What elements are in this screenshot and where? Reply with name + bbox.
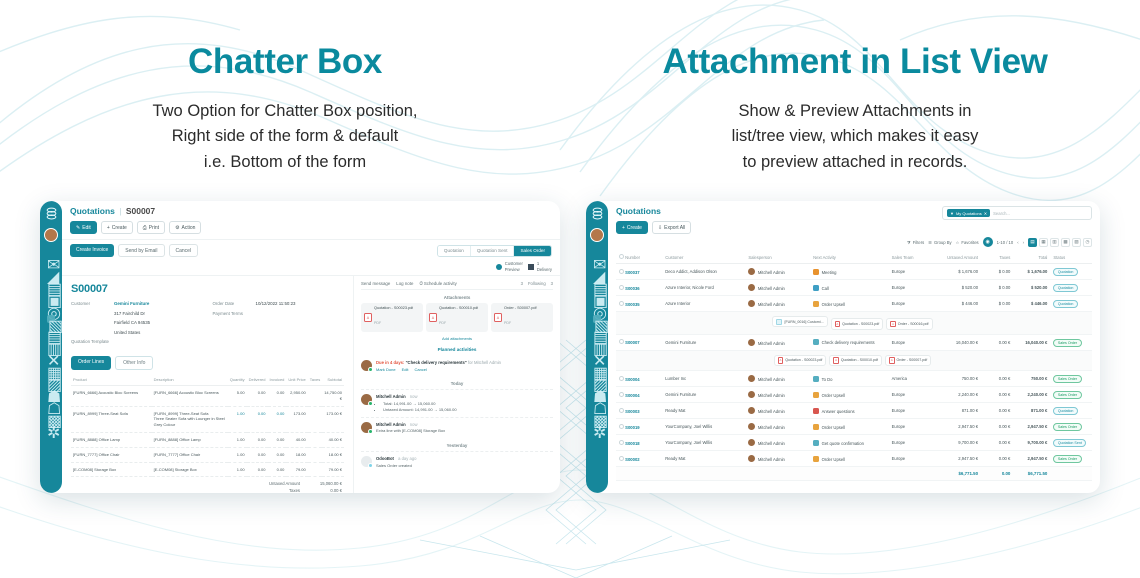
sales-icon[interactable]: ▧	[593, 315, 601, 323]
status-badge: Sales Order	[1053, 455, 1081, 463]
cell-salesperson[interactable]: Mitchell Admin	[745, 435, 810, 451]
table-row[interactable]: S00004Lumber IncMitchell AdminTo DoAmeri…	[616, 371, 1092, 387]
cell-subtotal[interactable]: 79.00 €	[322, 462, 344, 477]
cell-unit-price[interactable]: 79.00	[286, 462, 307, 477]
status-badge: Sales Order	[1053, 339, 1081, 347]
col-sales-team[interactable]: Sales Team	[889, 251, 931, 264]
cell-next-activity[interactable]: Order Upsell	[810, 387, 889, 403]
record-link[interactable]: S00002	[625, 457, 639, 462]
graph-icon[interactable]: ▨	[1072, 238, 1081, 247]
contacts-icon[interactable]: ▣	[47, 291, 55, 299]
cell-status[interactable]: Sales Order	[1050, 387, 1092, 403]
cell-next-activity[interactable]: Answer questions	[810, 403, 889, 419]
button-label: Create	[627, 225, 642, 231]
cell-taxes[interactable]	[308, 406, 322, 432]
cell-taxes[interactable]	[308, 432, 322, 447]
cell-description[interactable]: [E-COM08] Storage Box	[152, 462, 228, 477]
cell-customer[interactable]: Gemini Furniture	[662, 334, 745, 350]
cell-unit-price[interactable]: 173.00	[286, 406, 307, 432]
cell-next-activity[interactable]: Check delivery requirements	[810, 334, 889, 350]
project-icon[interactable]: ▩	[47, 411, 55, 419]
crm-icon[interactable]: ◎	[47, 303, 55, 311]
table-row[interactable]: S00035Azure InteriorMitchell AdminOrder …	[616, 296, 1092, 312]
cell-customer[interactable]: YourCompany, Joel Willis	[662, 419, 745, 435]
col-unit-price[interactable]: Unit Price	[286, 374, 307, 386]
cell-description[interactable]: [FURN_8888] Office Lamp	[152, 432, 228, 447]
cell-untaxed-amount[interactable]: $ 446.00	[930, 296, 981, 312]
accounting-icon[interactable]: ▦	[47, 363, 55, 371]
cell-total[interactable]: 750.00 €	[1013, 371, 1050, 387]
inventory-icon[interactable]: ▥	[47, 339, 55, 347]
cell-status[interactable]: Quotation	[1050, 296, 1092, 312]
cell-subtotal[interactable]: 14,750.00 €	[322, 385, 344, 406]
cell-taxes[interactable]: 0.00 €	[981, 451, 1013, 467]
table-body: S00037Deco Addict, Addison OlsonMitchell…	[616, 264, 1092, 467]
mark-done-button[interactable]: Mark Done	[376, 367, 396, 372]
cell-quantity[interactable]: 1.00	[228, 447, 247, 462]
cell-subtotal[interactable]: 40.00 €	[322, 432, 344, 447]
row-checkbox[interactable]	[619, 269, 624, 274]
status-line: Create Invoice Send by Email Cancel Quot…	[62, 239, 560, 261]
row-checkbox[interactable]	[619, 339, 624, 344]
col-delivered[interactable]: Delivered	[247, 374, 268, 386]
table-row[interactable]: S00018YourCompany, Joel WillisMitchell A…	[616, 435, 1092, 451]
pdf-icon: A	[889, 357, 895, 364]
create-invoice-button[interactable]: Create Invoice	[70, 244, 114, 257]
cell-number[interactable]: S00035	[616, 296, 662, 312]
table-row[interactable]: S00002Ready MatMitchell AdminOrder Upsel…	[616, 451, 1092, 467]
contacts-icon[interactable]: ▣	[593, 291, 601, 299]
cell-sales-team[interactable]: Europe	[889, 387, 931, 403]
cell-invoiced[interactable]: 0.00	[268, 462, 287, 477]
pivot-icon[interactable]: ▩	[1061, 238, 1070, 247]
cell-taxes[interactable]	[308, 462, 322, 477]
cell-number[interactable]: S00003	[616, 403, 662, 419]
cell-total[interactable]: $ 1,676.00	[1013, 264, 1050, 280]
cell-unit-price[interactable]: 40.00	[286, 432, 307, 447]
field-payment-terms[interactable]: Payment Terms	[213, 311, 345, 318]
activity-icon[interactable]: ◷	[1083, 238, 1092, 247]
log-note-button[interactable]: Log note	[396, 281, 413, 286]
cell-taxes[interactable]: 0.00 €	[981, 419, 1013, 435]
col-next-activity[interactable]: Next Activity	[810, 251, 889, 264]
add-attachments-button[interactable]: Add attachments	[361, 336, 553, 341]
following-count[interactable]: 3	[551, 281, 553, 286]
field-column-right: Order Date 10/12/2022 11:50:23 Payment T…	[213, 301, 345, 349]
table-row[interactable]: S00003Ready MatMitchell AdminAnswer ques…	[616, 403, 1092, 419]
row-checkbox[interactable]	[619, 408, 624, 413]
cell-subtotal[interactable]: 173.00 €	[322, 406, 344, 432]
cell-taxes[interactable]	[308, 447, 322, 462]
cell-untaxed-amount[interactable]: 871.00 €	[930, 403, 981, 419]
smart-label-1: Customer	[505, 261, 523, 266]
total-label: Taxes	[260, 488, 300, 493]
customer-preview-button[interactable]: Customer Preview	[496, 261, 523, 272]
send-message-button[interactable]: Send message	[361, 281, 390, 286]
attachment-chip[interactable]: AQuotation - S00023.pdf	[831, 318, 884, 330]
col-subtotal[interactable]: Subtotal	[322, 374, 344, 386]
col-taxes[interactable]: Taxes	[981, 251, 1013, 264]
breadcrumb-root[interactable]: Quotations	[70, 206, 115, 216]
cell-sales-team[interactable]: Europe	[889, 296, 931, 312]
cell-customer[interactable]: Ready Mat	[662, 451, 745, 467]
cell-total[interactable]: $ 446.00	[1013, 296, 1050, 312]
website-icon[interactable]: ▨	[47, 375, 55, 383]
table-row[interactable]: S00037Deco Addict, Addison OlsonMitchell…	[616, 264, 1092, 280]
cell-description[interactable]: [FURN_7777] Office Chair	[152, 447, 228, 462]
messages-icon[interactable]: ✉	[593, 255, 601, 263]
cell-number[interactable]: S00036	[616, 280, 662, 296]
cell-quantity[interactable]: 1.00	[228, 406, 247, 432]
cell-salesperson[interactable]: Mitchell Admin	[745, 403, 810, 419]
manufacturing-icon[interactable]: ✕	[593, 351, 601, 359]
form-control-bar: Quotations | S00007 ✎ Edit + Create	[62, 201, 560, 234]
cell-sales-team[interactable]: America	[889, 371, 931, 387]
cell-description[interactable]: [FURN_6666] Acoustic Bloc Screens	[152, 385, 228, 406]
project-icon[interactable]: ▩	[593, 411, 601, 419]
cell-untaxed-amount[interactable]: 750.00 €	[930, 371, 981, 387]
odoo-app-sidebar[interactable]: ✉ ◢ ▤ ▣ ◎ ▧ ▤ ▥ ✕ ▦ ▨ ☗ ☖ ▩ ✲	[40, 201, 62, 493]
cell-sales-team[interactable]: Europe	[889, 334, 931, 350]
cell-delivered[interactable]: 0.00	[247, 385, 268, 406]
cell-number[interactable]: S00018	[616, 435, 662, 451]
list-icon[interactable]: ▤	[1028, 238, 1037, 247]
col-salesperson[interactable]: Salesperson	[745, 251, 810, 264]
row-checkbox[interactable]	[619, 392, 624, 397]
cell-total[interactable]: 9,700.00 €	[1013, 435, 1050, 451]
cell-customer[interactable]: Azure Interior	[662, 296, 745, 312]
col-invoiced[interactable]: Invoiced	[268, 374, 287, 386]
breadcrumb[interactable]: Quotations | S00007	[70, 206, 552, 216]
cell-next-activity[interactable]: Get quote confirmation	[810, 435, 889, 451]
col-taxes[interactable]: Taxes	[308, 374, 322, 386]
cell-untaxed-amount[interactable]: 16,040.00 €	[930, 334, 981, 350]
megaphone-icon[interactable]: ◢	[47, 267, 55, 275]
attachment-chip[interactable]: A Quotation - S00010.pdf PDF	[426, 303, 488, 332]
cell-taxes[interactable]: $ 0.00	[981, 264, 1013, 280]
crm-icon[interactable]: ◎	[593, 303, 601, 311]
row-checkbox[interactable]	[619, 376, 624, 381]
order-line-row[interactable]: [FURN_8888] Office Lamp[FURN_8888] Offic…	[71, 432, 344, 447]
table-row[interactable]: S00036Azure Interior, Nicole FordMitchel…	[616, 280, 1092, 296]
field-value: Fairfield CA 94535	[114, 320, 150, 327]
attachment-chip[interactable]: AQuotation - S00010.pdf	[829, 355, 882, 367]
record-link[interactable]: S00019	[625, 425, 639, 430]
table-row[interactable]: S00004Gemini FurnitureMitchell AdminOrde…	[616, 387, 1092, 403]
filters-button[interactable]: ⧩ Filters	[907, 240, 924, 245]
cell-taxes[interactable]: 0.00 €	[981, 334, 1013, 350]
cell-delivered[interactable]: 0.00	[247, 462, 268, 477]
cell-unit-price[interactable]: 2,950.00	[286, 385, 307, 406]
search-input[interactable]: ▼ My Quotations ✕ Search...	[942, 206, 1092, 220]
cell-status[interactable]: Sales Order	[1050, 334, 1092, 350]
cell-number[interactable]: S00004	[616, 371, 662, 387]
attachment-chip[interactable]: AOrder - S00016.pdf	[886, 318, 932, 330]
calendar-icon[interactable]: ▥	[1050, 238, 1059, 247]
col-total[interactable]: Total	[1013, 251, 1050, 264]
status-bar[interactable]: Quotation Quotation Sent Sales Order	[437, 245, 552, 257]
cell-total[interactable]: $ 520.00	[1013, 280, 1050, 296]
cell-invoiced[interactable]: 0.00	[268, 432, 287, 447]
cell-number[interactable]: S00019	[616, 419, 662, 435]
cell-taxes[interactable]: 0.00 €	[981, 435, 1013, 451]
kanban-icon[interactable]: ▦	[1039, 238, 1048, 247]
order-line-row[interactable]: [FURN_6666] Acoustic Bloc Screens[FURN_6…	[71, 385, 344, 406]
cell-taxes[interactable]: $ 0.00	[981, 296, 1013, 312]
record-link[interactable]: S00036	[625, 286, 639, 291]
cell-salesperson[interactable]: Mitchell Admin	[745, 387, 810, 403]
table-row[interactable]: S00019YourCompany, Joel WillisMitchell A…	[616, 419, 1092, 435]
cell-salesperson[interactable]: Mitchell Admin	[745, 334, 810, 350]
cell-untaxed-amount[interactable]: $ 1,676.00	[930, 264, 981, 280]
cell-subtotal[interactable]: 18.00 €	[322, 447, 344, 462]
avatar	[748, 268, 755, 275]
employees-icon[interactable]: ☗	[47, 387, 55, 395]
record-link[interactable]: S00035	[625, 302, 639, 307]
cell-number[interactable]: S00002	[616, 451, 662, 467]
cell-salesperson[interactable]: Mitchell Admin	[745, 451, 810, 467]
attachment-toggle-button[interactable]: ◉	[983, 237, 993, 247]
cell-status[interactable]: Quotation	[1050, 264, 1092, 280]
cell-untaxed-amount[interactable]: 2,240.00 €	[930, 387, 981, 403]
row-checkbox[interactable]	[619, 440, 624, 445]
following-label[interactable]: Following	[528, 281, 546, 286]
cell-customer[interactable]: YourCompany, Joel Willis	[662, 435, 745, 451]
col-number[interactable]: Number	[616, 251, 662, 264]
pager-label[interactable]: 1-10 / 10	[997, 240, 1014, 245]
cell-status[interactable]: Quotation	[1050, 403, 1092, 419]
purchase-icon[interactable]: ▤	[47, 327, 55, 335]
cell-invoiced[interactable]: 0.00	[268, 385, 287, 406]
edit-activity-button[interactable]: Edit	[402, 367, 409, 372]
cell-salesperson[interactable]: Mitchell Admin	[745, 280, 810, 296]
action-button[interactable]: ⚙ Action	[169, 221, 201, 234]
attachment-chip[interactable]: AOrder - S00007.pdf	[885, 355, 931, 367]
edit-button[interactable]: ✎ Edit	[70, 221, 97, 234]
row-checkbox[interactable]	[619, 424, 624, 429]
cell-salesperson[interactable]: Mitchell Admin	[745, 371, 810, 387]
cell-sales-team[interactable]: Europe	[889, 451, 931, 467]
order-lines-table: Product Description Quantity Delivered I…	[71, 374, 344, 477]
cell-total[interactable]: 2,240.00 €	[1013, 387, 1050, 403]
send-by-email-button[interactable]: Send by Email	[118, 244, 164, 257]
row-checkbox[interactable]	[619, 285, 624, 290]
field-value[interactable]: Gemini Furniture	[114, 301, 149, 308]
cell-taxes[interactable]: 0.00 €	[981, 403, 1013, 419]
website-icon[interactable]: ▨	[593, 375, 601, 383]
status-quotation[interactable]: Quotation	[438, 246, 471, 256]
record-link[interactable]: S00018	[625, 441, 639, 446]
cell-quantity[interactable]: 1.00	[228, 462, 247, 477]
create-button[interactable]: + Create	[101, 221, 133, 234]
schedule-activity-button[interactable]: Schedule activity	[419, 281, 456, 286]
field-quotation-template[interactable]: Quotation Template	[71, 339, 203, 346]
table-row[interactable]: S00007Gemini FurnitureMitchell AdminChec…	[616, 334, 1092, 350]
record-link[interactable]: S00037	[625, 270, 639, 275]
cell-sales-team[interactable]: Europe	[889, 264, 931, 280]
cell-customer[interactable]: Deco Addict, Addison Olson	[662, 264, 745, 280]
employees-icon[interactable]: ☗	[593, 387, 601, 395]
purchase-icon[interactable]: ▤	[593, 327, 601, 335]
delivery-smart-button[interactable]: 1 Delivery	[528, 261, 552, 272]
cell-total[interactable]: 2,947.50 €	[1013, 451, 1050, 467]
cell-delivered[interactable]: 0.00	[247, 432, 268, 447]
cell-total[interactable]: 16,040.00 €	[1013, 334, 1050, 350]
odoo-app-sidebar[interactable]: ✉ ◢ ▤ ▣ ◎ ▧ ▤ ▥ ✕ ▦ ▨ ☗ ☖ ▩ ✲	[586, 201, 608, 493]
cell-number[interactable]: S00037	[616, 264, 662, 280]
attachment-chip[interactable]: A Quotation - S00023.pdf PDF	[361, 303, 423, 332]
cell-delivered[interactable]: 0.00	[247, 406, 268, 432]
status-quotation-sent[interactable]: Quotation Sent	[471, 246, 515, 256]
cell-number[interactable]: S00007	[616, 334, 662, 350]
recruitment-icon[interactable]: ☖	[593, 399, 601, 407]
select-all-checkbox[interactable]	[619, 254, 624, 259]
cell-status[interactable]: Sales Order	[1050, 451, 1092, 467]
cell-next-activity[interactable]: Order Upsell	[810, 296, 889, 312]
inventory-icon[interactable]: ▥	[593, 339, 601, 347]
col-quantity[interactable]: Quantity	[228, 374, 247, 386]
follower-count[interactable]: 3	[521, 281, 523, 286]
cell-salesperson[interactable]: Mitchell Admin	[745, 419, 810, 435]
status-sales-order[interactable]: Sales Order	[514, 246, 551, 256]
cell-status[interactable]: Sales Order	[1050, 371, 1092, 387]
attachment-name: Quotation - S00023.pdf	[785, 358, 822, 362]
cell-untaxed-amount[interactable]: 2,947.50 €	[930, 419, 981, 435]
cell-delivered[interactable]: 0.00	[247, 447, 268, 462]
user-avatar[interactable]	[44, 228, 58, 242]
cell-status[interactable]: Quotation	[1050, 280, 1092, 296]
search-facet[interactable]: ▼ My Quotations ✕	[947, 209, 990, 217]
attachment-chip[interactable]: A Order - S00007.pdf PDF	[491, 303, 553, 332]
accounting-icon[interactable]: ▦	[593, 363, 601, 371]
chart-icon	[813, 456, 819, 462]
cell-invoiced[interactable]: 0.00	[268, 447, 287, 462]
cell-status[interactable]: Sales Order	[1050, 419, 1092, 435]
cell-product[interactable]: [E-COM08] Storage Box	[71, 462, 152, 477]
manufacturing-icon[interactable]: ✕	[47, 351, 55, 359]
field-value[interactable]: 10/12/2022 11:50:23	[256, 301, 296, 308]
recruitment-icon[interactable]: ☖	[47, 399, 55, 407]
col-customer[interactable]: Customer	[662, 251, 745, 264]
group-by-button[interactable]: ☰ Group By	[928, 240, 951, 245]
calendar-icon[interactable]: ▤	[47, 279, 55, 287]
cell-customer[interactable]: Lumber Inc	[662, 371, 745, 387]
record-link[interactable]: S00007	[625, 340, 639, 345]
cell-quantity[interactable]: 5.00	[228, 385, 247, 406]
cell-next-activity[interactable]: Call	[810, 280, 889, 296]
sales-icon[interactable]: ▧	[47, 315, 55, 323]
col-status[interactable]: Status	[1050, 251, 1092, 264]
order-line-row[interactable]: [FURN_8999] Three-Seat Sofa[FURN_8999] T…	[71, 406, 344, 432]
settings-icon[interactable]: ✲	[47, 423, 55, 431]
cell-next-activity[interactable]: Order Upsell	[810, 419, 889, 435]
tab-order-lines[interactable]: Order Lines	[71, 356, 111, 370]
cell-taxes[interactable]: $ 0.00	[981, 280, 1013, 296]
cell-sales-team[interactable]: Europe	[889, 419, 931, 435]
cell-product[interactable]: [FURN_7777] Office Chair	[71, 447, 152, 462]
user-avatar[interactable]	[590, 228, 604, 242]
cell-quantity[interactable]: 1.00	[228, 432, 247, 447]
cell-customer[interactable]: Azure Interior, Nicole Ford	[662, 280, 745, 296]
cell-untaxed-amount[interactable]: $ 520.00	[930, 280, 981, 296]
cell-status[interactable]: Quotation Sent	[1050, 435, 1092, 451]
cell-sales-team[interactable]: Europe	[889, 435, 931, 451]
cell-taxes[interactable]	[308, 385, 322, 406]
cell-customer[interactable]: Gemini Furniture	[662, 387, 745, 403]
export-all-button[interactable]: ⇩ Export All	[652, 221, 691, 234]
messages-icon[interactable]: ✉	[47, 255, 55, 263]
cell-number[interactable]: S00004	[616, 387, 662, 403]
cell-product[interactable]: [FURN_8999] Three-Seat Sofa	[71, 406, 152, 432]
cell-product[interactable]: [FURN_8888] Office Lamp	[71, 432, 152, 447]
col-untaxed-amount[interactable]: Untaxed Amount	[930, 251, 981, 264]
calendar-icon[interactable]: ▤	[593, 279, 601, 287]
cell-next-activity[interactable]: Order Upsell	[810, 451, 889, 467]
tab-other-info[interactable]: Other Info	[115, 356, 153, 370]
pdf-icon: A	[890, 321, 896, 328]
close-icon[interactable]: ✕	[984, 211, 987, 216]
cancel-button[interactable]: Cancel	[169, 244, 199, 257]
record-link[interactable]: S00004	[625, 377, 639, 382]
cell-salesperson[interactable]: Mitchell Admin	[745, 264, 810, 280]
cell-customer[interactable]: Ready Mat	[662, 403, 745, 419]
cell-untaxed-amount[interactable]: 9,700.00 €	[930, 435, 981, 451]
cell-invoiced[interactable]: 0.00	[268, 406, 287, 432]
order-line-row[interactable]: [FURN_7777] Office Chair[FURN_7777] Offi…	[71, 447, 344, 462]
cell-sales-team[interactable]: Europe	[889, 403, 931, 419]
pdf-icon: A	[429, 313, 437, 322]
field-label: Order Date	[213, 301, 251, 308]
attachment-chip[interactable]: [FURN_0016] Customi...	[772, 316, 827, 327]
megaphone-icon[interactable]: ◢	[593, 267, 601, 275]
form-totals: Untaxed Amount 15,060.00 € Taxes 0.00 € …	[71, 481, 344, 493]
cell-unit-price[interactable]: 18.00	[286, 447, 307, 462]
cell-taxes[interactable]: 0.00 €	[981, 387, 1013, 403]
record-link[interactable]: S00003	[625, 409, 639, 414]
cell-taxes[interactable]: 0.00 €	[981, 371, 1013, 387]
cell-salesperson[interactable]: Mitchell Admin	[745, 296, 810, 312]
field-customer[interactable]: Customer Gemini Furniture	[71, 301, 203, 308]
col-description[interactable]: Description	[152, 374, 228, 386]
cell-description[interactable]: [FURN_8999] Three-Seat Sofa Three Seater…	[152, 406, 228, 432]
order-line-row[interactable]: [E-COM08] Storage Box[E-COM08] Storage B…	[71, 462, 344, 477]
pager-next-button[interactable]: ›	[1023, 240, 1024, 245]
cancel-activity-button[interactable]: Cancel	[414, 367, 426, 372]
record-link[interactable]: S00004	[625, 393, 639, 398]
cell-total[interactable]: 2,947.50 €	[1013, 419, 1050, 435]
favorites-button[interactable]: ☆ Favorites	[956, 240, 979, 245]
row-checkbox[interactable]	[619, 456, 624, 461]
cell-total[interactable]: 871.00 €	[1013, 403, 1050, 419]
cell-product[interactable]: [FURN_6666] Acoustic Bloc Screens	[71, 385, 152, 406]
page-title-right: Attachment in List View	[570, 44, 1140, 81]
cell-sales-team[interactable]: Europe	[889, 280, 931, 296]
print-button[interactable]: ⎙ Print	[137, 221, 165, 234]
cell-next-activity[interactable]: Meeting	[810, 264, 889, 280]
cell-next-activity[interactable]: To Do	[810, 371, 889, 387]
breadcrumb[interactable]: Quotations	[616, 206, 691, 216]
field-order-date[interactable]: Order Date 10/12/2022 11:50:23	[213, 301, 345, 308]
attachment-chip[interactable]: AQuotation - S00023.pdf	[774, 355, 827, 367]
avatar	[748, 455, 755, 462]
col-product[interactable]: Product	[71, 374, 152, 386]
row-checkbox[interactable]	[619, 301, 624, 306]
create-button[interactable]: + Create	[616, 221, 648, 234]
cell-untaxed-amount[interactable]: 2,947.50 €	[930, 451, 981, 467]
subtitle-line: list/tree view, which makes it easy	[570, 124, 1140, 150]
pager-prev-button[interactable]: ‹	[1017, 240, 1018, 245]
settings-icon[interactable]: ✲	[593, 423, 601, 431]
